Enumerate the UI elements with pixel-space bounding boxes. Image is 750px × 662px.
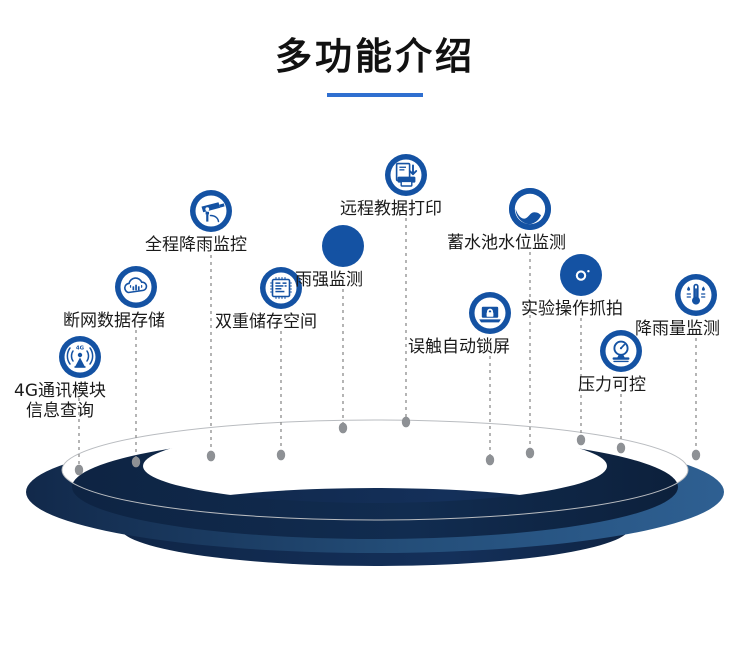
- connector-dot: [75, 465, 83, 476]
- feature-water-tank-level[interactable]: 蓄水池水位监测: [447, 186, 566, 253]
- infographic-canvas: 多功能介绍: [0, 0, 750, 662]
- feature-label-line1: 误触自动锁屏: [408, 337, 510, 357]
- feature-4g-module[interactable]: 4G4G通讯模块信息查询: [14, 334, 106, 421]
- feature-label: 压力可控: [578, 375, 646, 395]
- feature-label-line2: 信息查询: [14, 401, 106, 421]
- cctv-camera-icon: [188, 188, 234, 234]
- feature-label: 实验操作抓拍: [521, 299, 623, 319]
- 4g-signal-tower-icon: 4G: [57, 334, 103, 380]
- feature-label-line1: 压力可控: [578, 375, 646, 395]
- connector-dot: [617, 443, 625, 454]
- feature-label: 双重储存空间: [215, 312, 317, 332]
- connector-dot: [339, 423, 347, 434]
- feature-offline-data-storage[interactable]: 断网数据存储: [63, 264, 165, 331]
- connector-dot: [207, 451, 215, 462]
- feature-label-line1: 全程降雨监控: [145, 235, 247, 255]
- connector-dot: [577, 435, 585, 446]
- connector-dot: [526, 448, 534, 459]
- laptop-lock-icon: [467, 290, 513, 336]
- feature-rainfall-amount[interactable]: 降雨量监测: [635, 272, 720, 339]
- cloud-storage-icon: [113, 264, 159, 310]
- printer-download-icon: [383, 152, 429, 198]
- feature-auto-lock-screen[interactable]: 误触自动锁屏: [405, 290, 513, 357]
- feature-label-line1: 双重储存空间: [215, 312, 317, 332]
- connector-dot: [402, 417, 410, 428]
- svg-text:4G: 4G: [76, 345, 85, 351]
- feature-remote-data-print[interactable]: 远程教据打印: [340, 152, 442, 219]
- feature-label: 雨强监测: [292, 270, 366, 290]
- feature-label-line1: 降雨量监测: [635, 319, 720, 339]
- feature-label-line1: 蓄水池水位监测: [447, 233, 566, 253]
- water-level-icon: [507, 186, 553, 232]
- feature-label: 远程教据打印: [340, 199, 442, 219]
- feature-label-line1: 雨强监测: [295, 270, 363, 290]
- camera-icon: [558, 252, 604, 298]
- feature-full-rain-monitoring[interactable]: 全程降雨监控: [145, 188, 247, 255]
- feature-label-line1: 实验操作抓拍: [521, 299, 623, 319]
- rain-gauge-icon: [673, 272, 719, 318]
- feature-label: 误触自动锁屏: [405, 337, 513, 357]
- connector-dot: [486, 455, 494, 466]
- connector-dot: [277, 450, 285, 461]
- feature-label-line1: 远程教据打印: [340, 199, 442, 219]
- feature-label: 蓄水池水位监测: [447, 233, 566, 253]
- connector-dot: [692, 450, 700, 461]
- feature-label-line1: 断网数据存储: [63, 311, 165, 331]
- feature-rain-intensity[interactable]: 雨强监测: [292, 223, 366, 290]
- connector-dot: [132, 457, 140, 468]
- feature-label: 4G通讯模块信息查询: [14, 381, 106, 421]
- feature-label: 降雨量监测: [635, 319, 720, 339]
- feature-experiment-snapshot[interactable]: 实验操作抓拍: [521, 252, 623, 319]
- feature-label: 断网数据存储: [63, 311, 165, 331]
- rain-cloud-icon: [320, 223, 366, 269]
- feature-label-line1: 4G通讯模块: [14, 381, 106, 401]
- feature-label: 全程降雨监控: [145, 235, 247, 255]
